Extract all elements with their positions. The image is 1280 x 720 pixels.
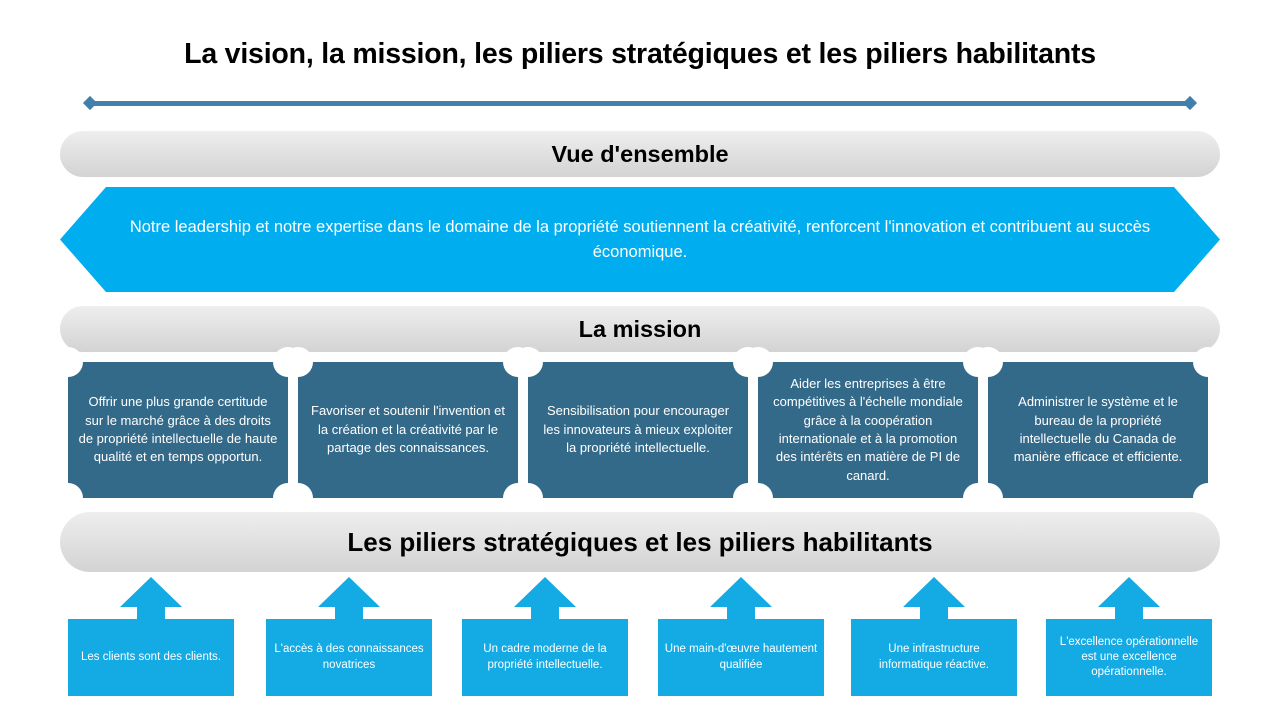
mission-box-text: Sensibilisation pour encourager les inno… xyxy=(538,402,738,457)
mission-boxes-row: Offrir une plus grande certitude sur le … xyxy=(60,362,1220,498)
corner-notch-icon xyxy=(53,483,83,513)
pillar-box-text: Les clients sont des clients. xyxy=(81,650,221,665)
mission-box[interactable]: Sensibilisation pour encourager les inno… xyxy=(528,362,748,498)
pillar-box[interactable]: Un cadre moderne de la propriété intelle… xyxy=(462,619,628,696)
corner-notch-icon xyxy=(513,483,543,513)
up-arrow-icon xyxy=(119,576,183,624)
mission-box[interactable]: Offrir une plus grande certitude sur le … xyxy=(68,362,288,498)
mission-box-text: Aider les entreprises à être compétitive… xyxy=(768,375,968,486)
pillar-item[interactable]: L'accès à des connaissances novatrices xyxy=(266,576,432,696)
corner-notch-icon xyxy=(973,483,1003,513)
corner-notch-icon xyxy=(743,347,773,377)
pillar-item[interactable]: Les clients sont des clients. xyxy=(68,576,234,696)
corner-notch-icon xyxy=(743,483,773,513)
mission-box-text: Administrer le système et le bureau de l… xyxy=(998,393,1198,467)
page-title: La vision, la mission, les piliers strat… xyxy=(60,38,1220,71)
pillar-box-text: L'excellence opérationnelle est une exce… xyxy=(1052,635,1206,681)
corner-notch-icon xyxy=(53,347,83,377)
up-arrow-icon xyxy=(513,576,577,624)
pillar-box[interactable]: Une infrastructure informatique réactive… xyxy=(851,619,1017,696)
mission-box-text: Favoriser et soutenir l'invention et la … xyxy=(308,402,508,457)
pillar-box-text: Une infrastructure informatique réactive… xyxy=(857,642,1011,673)
divider-line xyxy=(91,101,1189,106)
corner-notch-icon xyxy=(283,483,313,513)
up-arrow-icon xyxy=(709,576,773,624)
mission-box[interactable]: Aider les entreprises à être compétitive… xyxy=(758,362,978,498)
up-arrow-icon xyxy=(1097,576,1161,624)
section-band-mission[interactable]: La mission xyxy=(60,306,1220,352)
corner-notch-icon xyxy=(1193,347,1223,377)
pillar-item[interactable]: Un cadre moderne de la propriété intelle… xyxy=(462,576,628,696)
overview-chevron-banner[interactable]: Notre leadership et notre expertise dans… xyxy=(60,187,1220,292)
overview-statement-text: Notre leadership et notre expertise dans… xyxy=(120,215,1160,265)
pillar-box-text: Une main-d'œuvre hautement qualifiée xyxy=(664,642,818,673)
section-band-pillars[interactable]: Les piliers stratégiques et les piliers … xyxy=(60,512,1220,572)
section-band-overview[interactable]: Vue d'ensemble xyxy=(60,131,1220,177)
up-arrow-icon xyxy=(317,576,381,624)
slide-canvas: La vision, la mission, les piliers strat… xyxy=(0,0,1280,720)
section-band-overview-label: Vue d'ensemble xyxy=(551,141,728,168)
section-band-pillars-label: Les piliers stratégiques et les piliers … xyxy=(347,527,932,558)
up-arrow-icon xyxy=(902,576,966,624)
mission-box-text: Offrir une plus grande certitude sur le … xyxy=(78,393,278,467)
section-band-mission-label: La mission xyxy=(579,316,702,343)
title-divider xyxy=(84,95,1196,111)
pillar-box[interactable]: L'accès à des connaissances novatrices xyxy=(266,619,432,696)
pillar-item[interactable]: Une main-d'œuvre hautement qualifiée xyxy=(658,576,824,696)
pillars-row: Les clients sont des clients. L'accès à … xyxy=(0,576,1280,696)
corner-notch-icon xyxy=(283,347,313,377)
pillar-box-text: L'accès à des connaissances novatrices xyxy=(272,642,426,673)
mission-box[interactable]: Administrer le système et le bureau de l… xyxy=(988,362,1208,498)
pillar-box-text: Un cadre moderne de la propriété intelle… xyxy=(468,642,622,673)
corner-notch-icon xyxy=(513,347,543,377)
pillar-item[interactable]: L'excellence opérationnelle est une exce… xyxy=(1046,576,1212,696)
corner-notch-icon xyxy=(973,347,1003,377)
mission-box[interactable]: Favoriser et soutenir l'invention et la … xyxy=(298,362,518,498)
diamond-right-icon xyxy=(1183,96,1197,110)
pillar-box[interactable]: L'excellence opérationnelle est une exce… xyxy=(1046,619,1212,696)
pillar-box[interactable]: Une main-d'œuvre hautement qualifiée xyxy=(658,619,824,696)
pillar-box[interactable]: Les clients sont des clients. xyxy=(68,619,234,696)
pillar-item[interactable]: Une infrastructure informatique réactive… xyxy=(851,576,1017,696)
corner-notch-icon xyxy=(1193,483,1223,513)
